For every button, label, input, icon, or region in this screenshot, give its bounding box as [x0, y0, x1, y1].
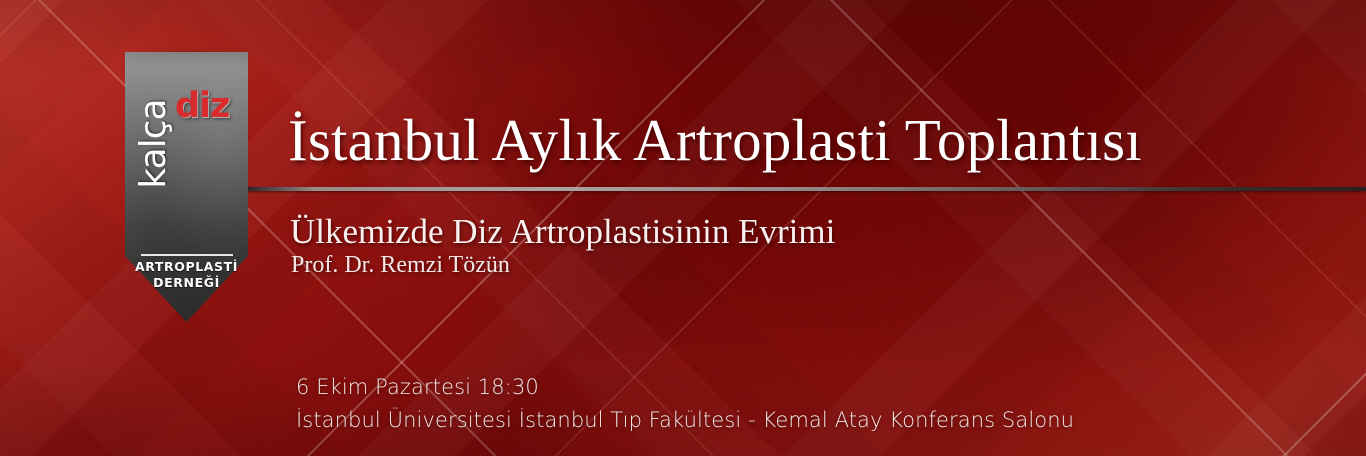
- logo-wordmark: kalça diz: [125, 88, 248, 216]
- header-divider-rule: [248, 187, 1366, 191]
- banner-speaker-name: Prof. Dr. Remzi Tözün: [291, 252, 510, 278]
- logo-word-kalca: kalça: [136, 88, 172, 200]
- banner-title: İstanbul Aylık Artroplasti Toplantısı: [288, 110, 1142, 172]
- logo-organization-name: ARTROPLASTİ DERNEĞİ: [125, 259, 248, 290]
- banner-subtitle: Ülkemizde Diz Artroplastisinin Evrimi: [290, 213, 835, 252]
- logo-word-diz: diz: [175, 89, 229, 124]
- logo-org-line-1: ARTROPLASTİ: [125, 259, 248, 275]
- event-banner: kalça diz ARTROPLASTİ DERNEĞİ İstanbul A…: [0, 0, 1366, 456]
- logo-org-line-2: DERNEĞİ: [125, 275, 248, 291]
- logo-divider-line: [141, 254, 233, 256]
- banner-venue: İstanbul Üniversitesi İstanbul Tıp Fakül…: [296, 404, 1074, 437]
- banner-event-details: 6 Ekim Pazartesi 18:30 İstanbul Üniversi…: [296, 371, 1074, 436]
- banner-datetime: 6 Ekim Pazartesi 18:30: [296, 371, 1074, 404]
- association-logo: kalça diz ARTROPLASTİ DERNEĞİ: [125, 52, 248, 322]
